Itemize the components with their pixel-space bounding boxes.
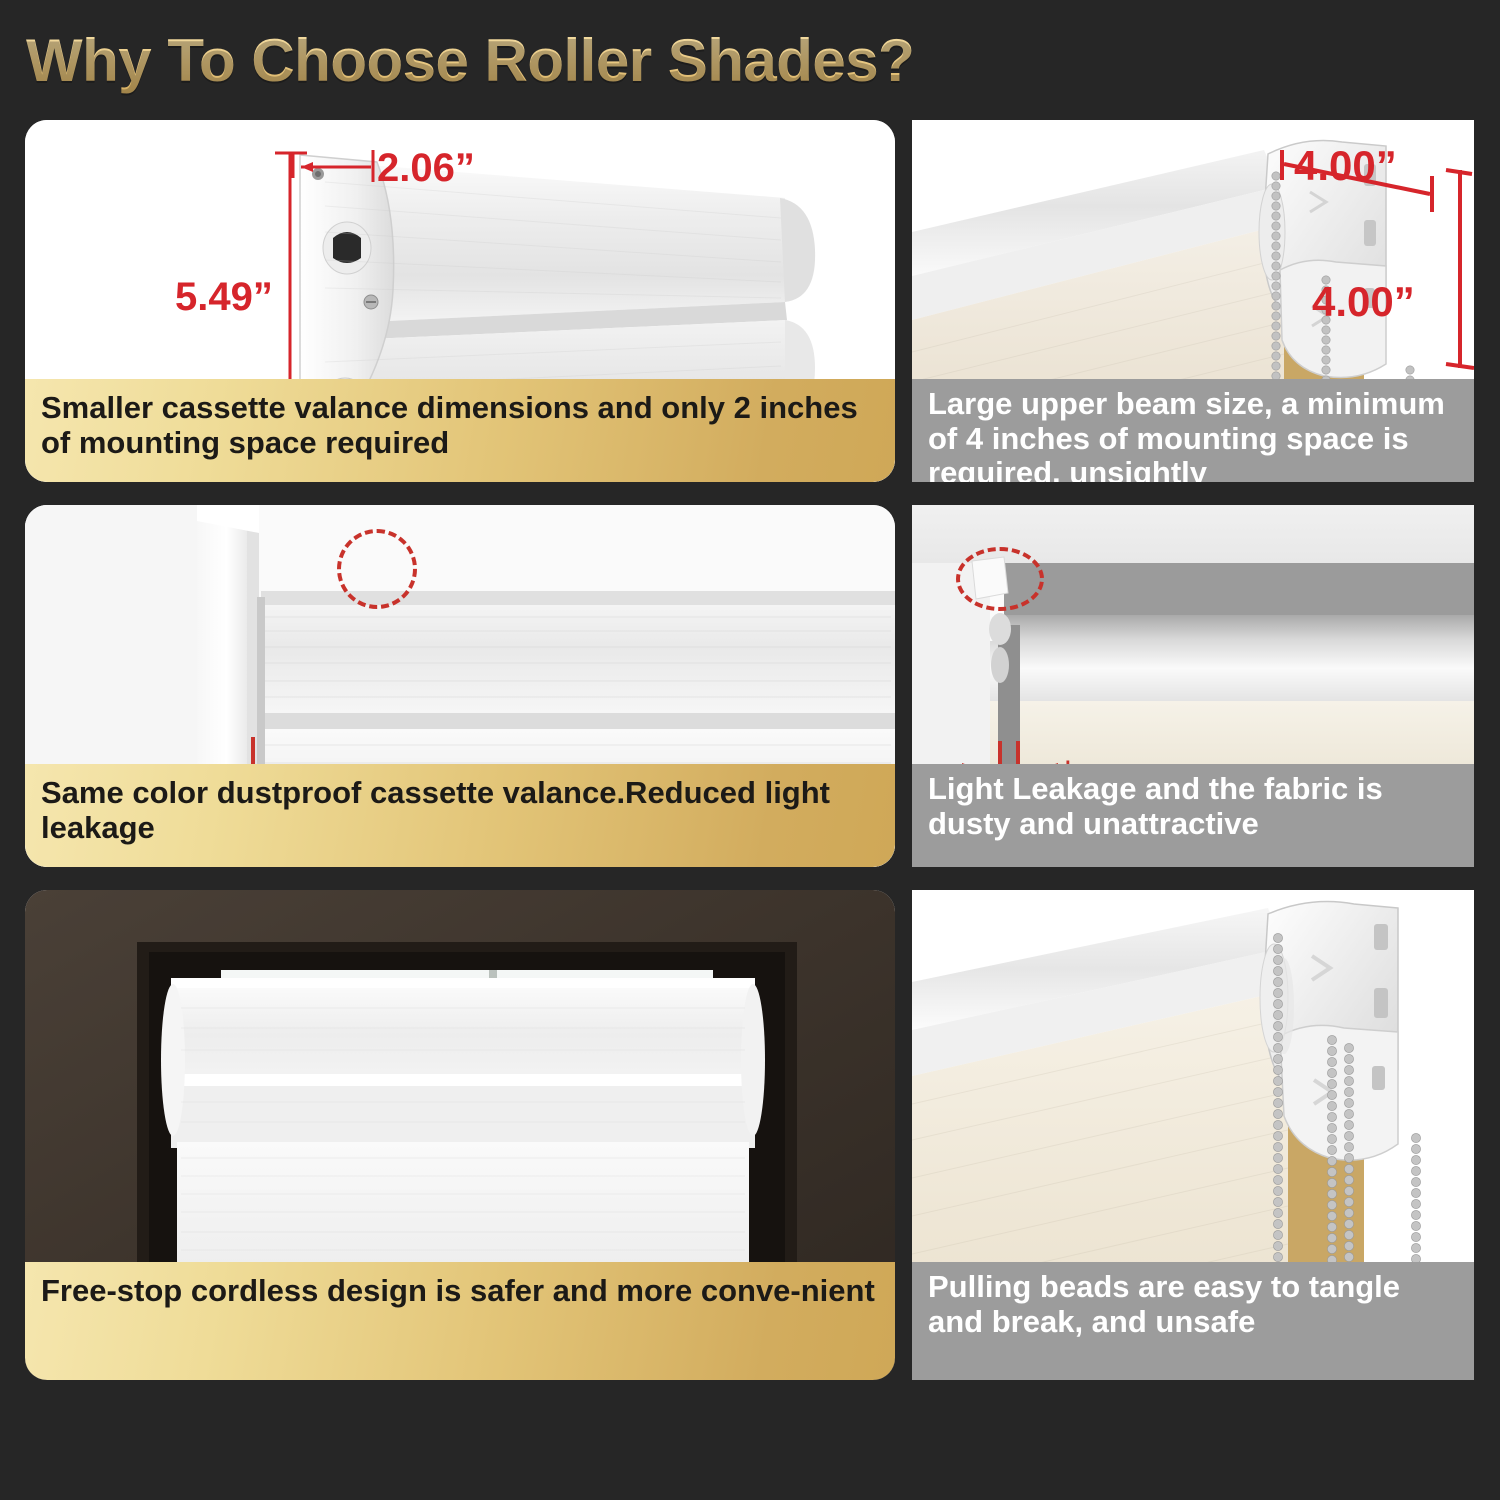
infographic-page: Why To Choose Roller Shades? [0, 0, 1500, 1500]
dimension-label-width: 2.06” [377, 146, 475, 191]
page-title: Why To Choose Roller Shades? [26, 22, 1126, 100]
panel-large-upper-beam: 4.00” 4.00” Large upper beam size, a min… [912, 120, 1474, 482]
panel-caption-dustproof-cassette-valance: Same color dustproof cassette valance.Re… [25, 764, 895, 867]
panel-caption-free-stop-cordless-design: Free-stop cordless design is safer and m… [25, 1262, 895, 1380]
panel-caption-large-upper-beam: Large upper beam size, a minimum of 4 in… [912, 379, 1474, 482]
panel-light-leakage-dusty-fabric: Large gap Light Leakage and the fabric i… [912, 505, 1474, 867]
panel-pulling-beads-tangle: Pulling beads are easy to tangle and bre… [912, 890, 1474, 1380]
highlight-circle-gap [956, 547, 1044, 611]
panel-caption-pulling-beads-tangle: Pulling beads are easy to tangle and bre… [912, 1262, 1474, 1380]
dimension-label-beam-width: 4.00” [1294, 142, 1397, 190]
panel-caption-cassette-valance-dimensions: Smaller cassette valance dimensions and … [25, 379, 895, 482]
highlight-circle-seam [337, 529, 417, 609]
panel-dustproof-cassette-valance: smaller gap Same color dustproof cassett… [25, 505, 895, 867]
panel-cassette-valance-dimensions: 2.06” 5.49” Smaller cassette valance dim… [25, 120, 895, 482]
dimension-label-height: 5.49” [175, 275, 273, 320]
panel-caption-light-leakage-dusty-fabric: Light Leakage and the fabric is dusty an… [912, 764, 1474, 867]
panel-free-stop-cordless-design: Free-stop cordless design is safer and m… [25, 890, 895, 1380]
dimension-label-beam-height: 4.00” [1312, 278, 1415, 326]
